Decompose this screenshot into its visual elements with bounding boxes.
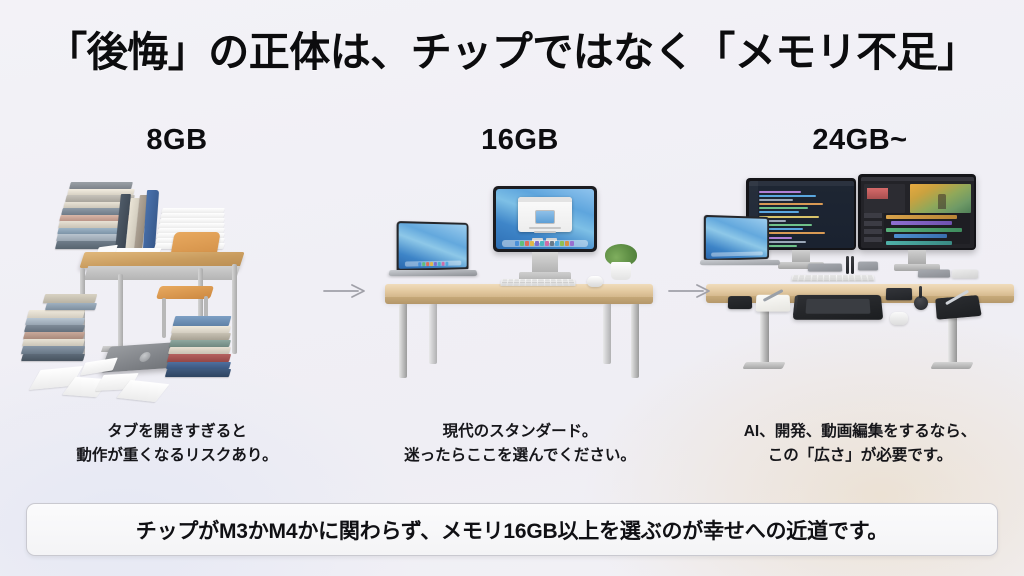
illustration-cluttered-desk (22, 164, 332, 414)
laptop (397, 221, 469, 271)
column-heading-24gb: 24GB~ (700, 120, 1020, 160)
column-8gb: 8GB (22, 120, 332, 480)
column-heading-16gb: 16GB (375, 120, 665, 160)
mouse (890, 312, 908, 325)
comparison-columns: 8GB (0, 120, 1024, 480)
footer-banner-text: チップがM3かM4かに関わらず、メモリ16GB以上を選ぶのが幸せへの近道です。 (136, 515, 888, 545)
caption-line-2: 迷ったらここを選んでください。 (375, 444, 665, 468)
external-drive (886, 288, 912, 300)
caption-line-2: 動作が重くなるリスクあり。 (22, 444, 332, 468)
drawing-tablet (793, 295, 884, 320)
column-heading-8gb: 8GB (22, 120, 332, 160)
illustration-clean-desk (375, 164, 665, 414)
notebook-large (935, 295, 981, 320)
notepad (756, 295, 791, 312)
column-caption-16gb: 現代のスタンダード。 迷ったらここを選んでください。 (375, 420, 665, 468)
mouse (587, 276, 603, 287)
column-24gb: 24GB~ (700, 120, 1020, 480)
column-16gb: 16GB (375, 120, 665, 480)
caption-line-1: AI、開発、動画編集をするなら、 (700, 420, 1020, 444)
column-caption-8gb: タブを開きすぎると 動作が重くなるリスクあり。 (22, 420, 332, 468)
video-editing-monitor (858, 174, 976, 250)
desktop-monitor (493, 186, 597, 252)
column-caption-24gb: AI、開発、動画編集をするなら、 この「広さ」が必要です。 (700, 420, 1020, 468)
keyboard (791, 275, 875, 281)
arrow-right-icon-1 (322, 283, 368, 299)
arrow-right-icon-2 (667, 283, 713, 299)
caption-line-2: この「広さ」が必要です。 (700, 444, 1020, 468)
footer-banner: チップがM3かM4かに関わらず、メモリ16GB以上を選ぶのが幸せへの近道です。 (26, 503, 998, 556)
desk-puck (914, 296, 928, 310)
notebook-small (728, 296, 752, 309)
illustration-pro-desk (700, 164, 1020, 414)
page-title: 「後悔」の正体は、チップではなく「メモリ不足」 (0, 18, 1024, 78)
caption-line-1: タブを開きすぎると (22, 420, 332, 444)
caption-line-1: 現代のスタンダード。 (375, 420, 665, 444)
slide-canvas: 「後悔」の正体は、チップではなく「メモリ不足」 8GB (0, 0, 1024, 576)
laptop (704, 215, 769, 261)
keyboard (500, 279, 576, 286)
